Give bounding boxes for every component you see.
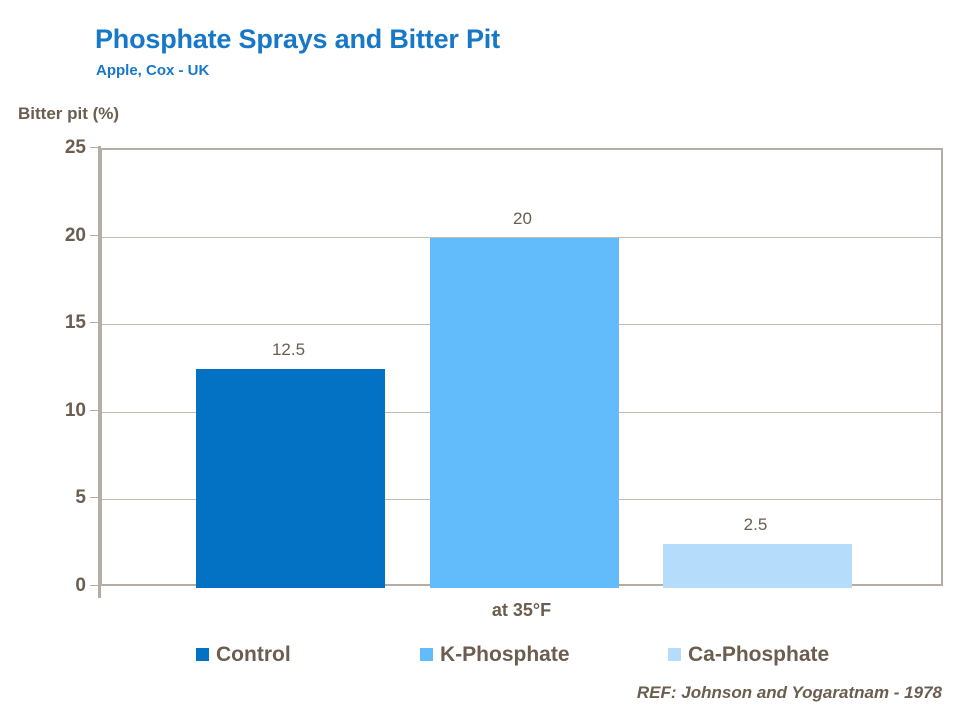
y-axis-tick-label: 20 [16, 226, 86, 245]
bar-value-label: 2.5 [661, 516, 850, 533]
chart-legend: ControlK-PhosphateCa-Phosphate [100, 640, 943, 668]
reference-note: REF: Johnson and Yogaratnam - 1978 [637, 683, 942, 703]
bar-control[interactable] [196, 369, 385, 588]
legend-label: Control [216, 644, 291, 665]
y-axis-tick [90, 235, 99, 236]
y-axis-tick [90, 585, 99, 586]
y-axis-tick [90, 147, 99, 148]
y-axis-tick-label: 15 [16, 313, 86, 332]
y-axis-tick [90, 322, 99, 323]
y-axis-tick [90, 410, 99, 411]
bar-value-label: 12.5 [194, 341, 383, 358]
bar-k-phosphate[interactable] [430, 238, 619, 588]
legend-swatch-icon [668, 648, 681, 661]
y-axis-tick-label: 10 [16, 401, 86, 420]
legend-swatch-icon [420, 648, 433, 661]
legend-label: K-Phosphate [440, 644, 570, 665]
x-axis-category-label: at 35°F [100, 600, 943, 621]
bar-value-label: 20 [428, 210, 617, 227]
legend-item-ca-phosphate[interactable]: Ca-Phosphate [668, 640, 829, 668]
legend-label: Ca-Phosphate [688, 644, 829, 665]
y-axis-spine [98, 146, 101, 598]
bar-ca-phosphate[interactable] [663, 544, 852, 588]
chart-subtitle: Apple, Cox - UK [96, 62, 209, 79]
chart-title: Phosphate Sprays and Bitter Pit [95, 24, 500, 55]
y-axis-tick-label: 25 [16, 138, 86, 157]
y-axis-tick-label: 5 [16, 488, 86, 507]
legend-item-control[interactable]: Control [196, 640, 291, 668]
y-axis-tick-label: 0 [16, 576, 86, 595]
legend-swatch-icon [196, 648, 209, 661]
y-axis-title: Bitter pit (%) [18, 104, 119, 124]
y-axis-tick [90, 497, 99, 498]
legend-item-k-phosphate[interactable]: K-Phosphate [420, 640, 570, 668]
